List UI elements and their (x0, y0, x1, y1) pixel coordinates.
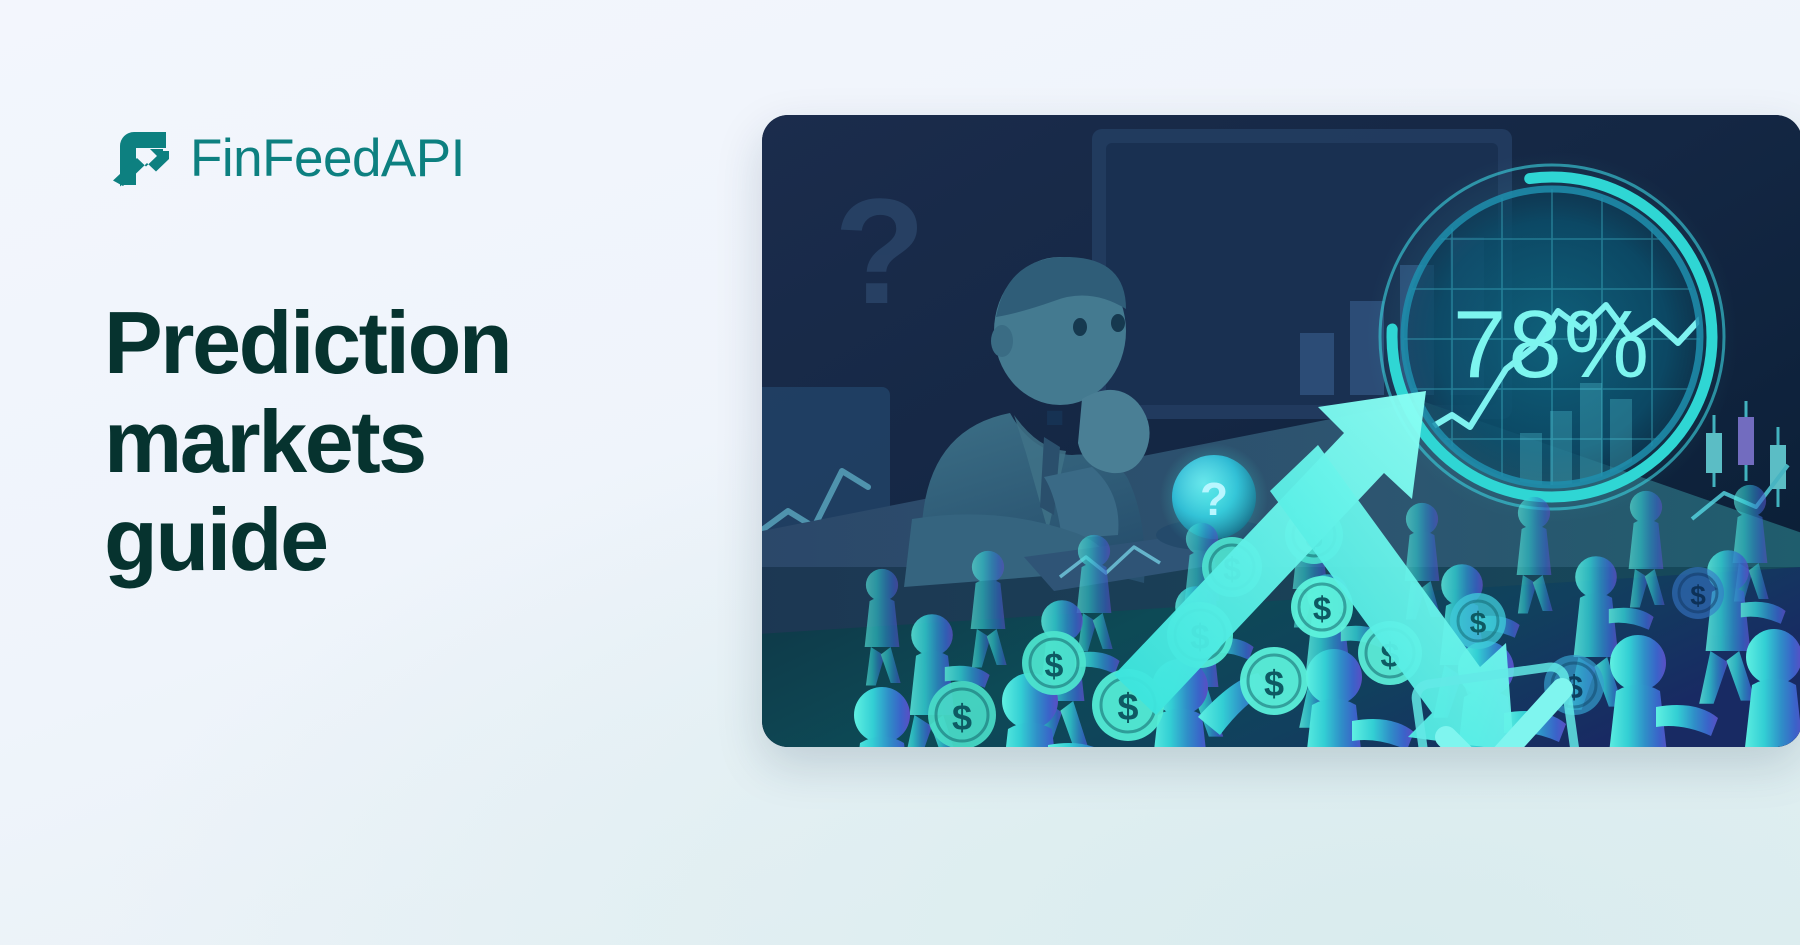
dollar-coin: $ (1672, 567, 1724, 619)
gauge-value-label: 78% (1453, 291, 1651, 398)
finfeed-arrow-logo-icon (104, 125, 170, 191)
left-content-column: FinFeedAPI Prediction markets guide (104, 118, 724, 590)
dollar-coin: $ (1022, 631, 1086, 695)
crystal-ball-question-mark: ? (1200, 473, 1228, 525)
svg-text:?: ? (834, 167, 926, 335)
svg-text:$: $ (1470, 607, 1487, 640)
hero-illustration: ? ? ? (762, 115, 1800, 747)
dollar-coin: $ (1240, 647, 1308, 715)
brand-name: FinFeedAPI (190, 132, 465, 185)
svg-text:$: $ (952, 697, 972, 738)
svg-text:$: $ (1045, 647, 1064, 685)
percentage-gauge: 78% (1366, 151, 1738, 523)
svg-text:$: $ (1264, 663, 1284, 704)
hero-illustration-card: ? ? ? (762, 115, 1800, 747)
page-title: Prediction markets guide (104, 294, 574, 590)
svg-text:$: $ (1690, 580, 1706, 611)
headline-line-3: guide (104, 491, 574, 590)
poster-canvas: FinFeedAPI Prediction markets guide (0, 0, 1800, 945)
headline-line-1: Prediction (104, 294, 574, 393)
brand-logo[interactable]: FinFeedAPI (104, 118, 724, 198)
headline-line-2: markets (104, 393, 574, 492)
dollar-coin: $ (928, 681, 996, 747)
svg-text:$: $ (1313, 590, 1331, 627)
